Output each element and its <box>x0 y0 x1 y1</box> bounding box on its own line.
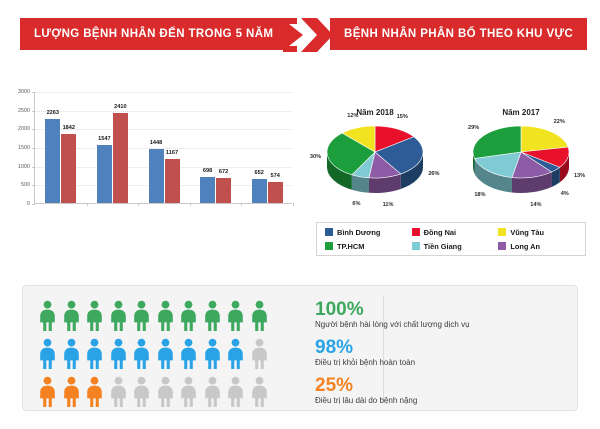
bar: 574 <box>268 182 283 203</box>
person-icon <box>133 376 150 407</box>
bar-chart-y-axis: 050010001500200025003000 <box>6 92 32 204</box>
pie-2018-percent-label: 26% <box>428 171 439 177</box>
person-icon <box>86 338 103 369</box>
pie-2017-percent-label: 29% <box>468 125 479 131</box>
y-axis-tick-label: 1500 <box>18 145 30 151</box>
y-axis-tick <box>32 129 35 130</box>
gridline <box>35 92 292 93</box>
stats-text-group: 100%Người bệnh hài lòng với chất lượng d… <box>315 296 575 410</box>
bar: 2263 <box>45 119 60 203</box>
person-icon <box>133 300 150 331</box>
y-axis-tick-label: 0 <box>27 201 30 207</box>
bar-value-label: 698 <box>203 168 212 174</box>
legend-swatch <box>412 228 420 236</box>
stat-item: 98%Điều trị khỏi bệnh hoàn toàn <box>315 334 575 372</box>
x-axis-tick <box>190 203 191 206</box>
people-row <box>39 296 309 334</box>
y-axis-tick <box>32 185 35 186</box>
x-axis-tick <box>241 203 242 206</box>
y-axis-tick <box>32 167 35 168</box>
legend-item: Tiền Giang <box>408 242 495 251</box>
bar-chart: 050010001500200025003000 226318421547241… <box>6 92 296 222</box>
right-arrow-icon <box>283 14 337 56</box>
legend-label: Đồng Nai <box>424 228 456 237</box>
stat-item: 100%Người bệnh hài lòng với chất lượng d… <box>315 296 575 334</box>
gridline <box>35 111 292 112</box>
person-icon <box>227 338 244 369</box>
pie-chart-2018: Năm 2018 15%26%11%6%30%12% <box>300 100 450 220</box>
bar: 1547 <box>97 145 112 203</box>
stat-percent: 98% <box>315 338 575 358</box>
person-icon <box>204 376 221 407</box>
banner-left-title: LƯỢNG BỆNH NHÂN ĐẾN TRONG 5 NĂM <box>34 28 273 40</box>
legend-label: Vũng Tàu <box>510 228 544 237</box>
bar-group: 22631842 <box>45 119 76 203</box>
legend-label: Bình Dương <box>337 228 380 237</box>
pie-2017-percent-label: 14% <box>530 202 541 208</box>
y-axis-tick-label: 2500 <box>18 108 30 114</box>
bar: 1167 <box>165 159 180 203</box>
y-axis-tick <box>32 111 35 112</box>
bar-value-label: 1167 <box>166 150 178 156</box>
bar-chart-plot-area: 226318421547241014481167698672652574 <box>34 92 292 204</box>
person-icon <box>251 300 268 331</box>
person-icon <box>204 300 221 331</box>
stat-percent: 100% <box>315 300 575 320</box>
bar-value-label: 2410 <box>114 104 126 110</box>
stat-description: Người bệnh hài lòng với chất lượng dịch … <box>315 320 575 330</box>
person-icon <box>227 376 244 407</box>
person-icon <box>110 300 127 331</box>
legend-swatch <box>325 242 333 250</box>
pie-2018-percent-label: 6% <box>352 201 360 207</box>
people-row <box>39 334 309 372</box>
person-icon <box>39 300 56 331</box>
person-icon <box>63 300 80 331</box>
y-axis-tick <box>32 92 35 93</box>
legend-item: TP.HCM <box>321 242 408 251</box>
y-axis-tick-label: 1000 <box>18 164 30 170</box>
header-banners: LƯỢNG BỆNH NHÂN ĐẾN TRONG 5 NĂM BỆNH NHÂ… <box>0 14 600 56</box>
person-icon <box>63 376 80 407</box>
person-icon <box>39 376 56 407</box>
pie-2017-percent-label: 22% <box>554 119 565 125</box>
y-axis-tick <box>32 148 35 149</box>
pie-2017-graphic: 22%13%4%14%18%29% <box>469 122 573 196</box>
pie-2018-graphic: 15%26%11%6%30%12% <box>323 122 427 196</box>
bar: 652 <box>252 179 267 203</box>
bar-value-label: 1842 <box>63 125 75 131</box>
bar: 698 <box>200 177 215 203</box>
y-axis-tick <box>32 204 35 205</box>
pie-2018-percent-label: 11% <box>383 202 394 208</box>
bar: 672 <box>216 178 231 203</box>
person-icon <box>86 376 103 407</box>
legend-item: Long An <box>494 242 581 251</box>
person-icon <box>180 300 197 331</box>
stat-description: Điều trị khỏi bệnh hoàn toàn <box>315 358 575 368</box>
legend-label: Long An <box>510 242 540 251</box>
person-icon <box>39 338 56 369</box>
pie-chart-2017: Năm 2017 22%13%4%14%18%29% <box>446 100 596 220</box>
person-icon <box>180 376 197 407</box>
pie-charts: Năm 2018 15%26%11%6%30%12% Năm 2017 22%1… <box>300 100 600 220</box>
legend-swatch <box>325 228 333 236</box>
person-icon <box>180 338 197 369</box>
pie-2018-svg <box>323 122 427 196</box>
person-icon <box>157 376 174 407</box>
pie-2018-percent-label: 15% <box>397 114 408 120</box>
bar-value-label: 652 <box>255 170 264 176</box>
stats-panel: 100%Người bệnh hài lòng với chất lượng d… <box>22 285 578 411</box>
pie-2017-percent-label: 13% <box>574 173 585 179</box>
stat-description: Điều trị lâu dài do bệnh nặng <box>315 396 575 406</box>
pie-2017-title: Năm 2017 <box>446 108 596 117</box>
bar-value-label: 1448 <box>150 140 162 146</box>
legend-swatch <box>498 228 506 236</box>
banner-patients-by-region: BỆNH NHÂN PHÂN BỐ THEO KHU VỰC <box>330 18 587 50</box>
y-axis-tick-label: 3000 <box>18 89 30 95</box>
person-icon <box>86 300 103 331</box>
legend-item: Bình Dương <box>321 228 408 237</box>
bar-group: 698672 <box>200 177 231 203</box>
legend-swatch <box>498 242 506 250</box>
y-axis-tick-label: 2000 <box>18 126 30 132</box>
legend-label: TP.HCM <box>337 242 364 251</box>
person-icon <box>157 338 174 369</box>
legend-label: Tiền Giang <box>424 242 462 251</box>
person-icon <box>110 338 127 369</box>
bar-value-label: 1547 <box>98 136 110 142</box>
pie-2017-percent-label: 18% <box>474 192 485 198</box>
bar-value-label: 574 <box>271 173 280 179</box>
pie-chart-legend: Bình DươngĐồng NaiVũng TàuTP.HCMTiền Gia… <box>316 222 586 256</box>
pie-2018-percent-label: 12% <box>347 113 358 119</box>
person-icon <box>251 376 268 407</box>
pie-2018-title: Năm 2018 <box>300 108 450 117</box>
bar-group: 652574 <box>252 179 283 203</box>
legend-swatch <box>412 242 420 250</box>
pie-2018-percent-label: 30% <box>310 154 321 160</box>
bar-value-label: 672 <box>219 169 228 175</box>
person-icon <box>204 338 221 369</box>
person-icon <box>251 338 268 369</box>
pie-2017-percent-label: 4% <box>561 191 569 197</box>
x-axis-tick <box>138 203 139 206</box>
stat-percent: 25% <box>315 376 575 396</box>
person-icon <box>227 300 244 331</box>
legend-item: Vũng Tàu <box>494 228 581 237</box>
bar: 2410 <box>113 113 128 203</box>
x-axis-tick <box>87 203 88 206</box>
person-icon <box>63 338 80 369</box>
x-axis-tick <box>293 203 294 206</box>
person-icon <box>157 300 174 331</box>
bar-group: 15472410 <box>97 113 128 203</box>
bar-value-label: 2263 <box>47 110 59 116</box>
person-icon <box>110 376 127 407</box>
people-pictogram-group <box>39 296 309 410</box>
y-axis-tick-label: 500 <box>21 182 30 188</box>
bar: 1842 <box>61 134 76 203</box>
people-row <box>39 372 309 410</box>
bar: 1448 <box>149 149 164 203</box>
bar-group: 14481167 <box>149 149 180 203</box>
pie-2017-svg <box>469 122 573 196</box>
banner-patients-5-years: LƯỢNG BỆNH NHÂN ĐẾN TRONG 5 NĂM <box>20 18 287 50</box>
banner-right-title: BỆNH NHÂN PHÂN BỐ THEO KHU VỰC <box>344 28 573 40</box>
person-icon <box>133 338 150 369</box>
stat-item: 25%Điều trị lâu dài do bệnh nặng <box>315 372 575 410</box>
legend-item: Đồng Nai <box>408 228 495 237</box>
